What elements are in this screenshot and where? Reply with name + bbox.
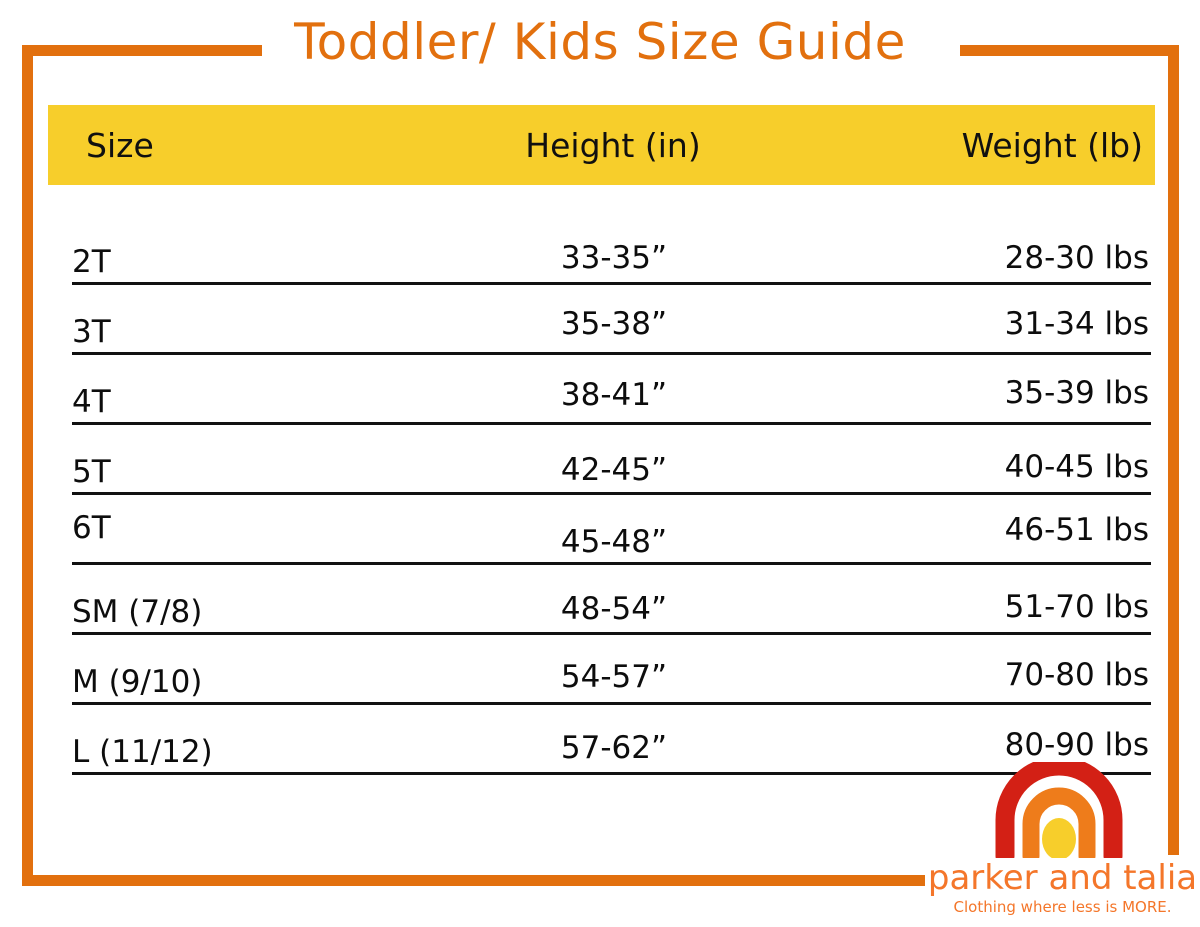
table-body: 2T 33-35” 28-30 lbs 3T 35-38” 31-34 lbs … <box>72 215 1151 775</box>
frame-border-left <box>22 45 33 886</box>
cell-height: 42-45” <box>420 455 808 486</box>
table-row: 3T 35-38” 31-34 lbs <box>72 285 1151 355</box>
cell-height: 57-62” <box>420 733 808 764</box>
cell-weight: 35-39 lbs <box>808 378 1151 409</box>
table-row: 6T 45-48” 46-51 lbs <box>72 495 1151 565</box>
column-header-weight: Weight (lb) <box>808 126 1155 165</box>
table-row: 5T 42-45” 40-45 lbs <box>72 425 1151 495</box>
cell-weight: 80-90 lbs <box>808 730 1151 761</box>
cell-height: 38-41” <box>420 380 808 411</box>
cell-weight: 31-34 lbs <box>808 309 1151 340</box>
table-row: 2T 33-35” 28-30 lbs <box>72 215 1151 285</box>
cell-weight: 40-45 lbs <box>808 452 1151 483</box>
column-header-height: Height (in) <box>418 126 808 165</box>
cell-size: SM (7/8) <box>72 597 420 628</box>
cell-weight: 70-80 lbs <box>808 660 1151 691</box>
table-header-row: Size Height (in) Weight (lb) <box>48 105 1155 185</box>
cell-height: 45-48” <box>420 527 808 558</box>
size-table: Size Height (in) Weight (lb) 2T 33-35” 2… <box>48 105 1155 185</box>
cell-height: 54-57” <box>420 662 808 693</box>
rainbow-arch-icon <box>995 762 1123 858</box>
cell-size: 4T <box>72 387 420 418</box>
table-row: M (9/10) 54-57” 70-80 lbs <box>72 635 1151 705</box>
cell-height: 33-35” <box>420 243 808 274</box>
brand-logo: parker and talia Clothing where less is … <box>925 762 1200 922</box>
cell-weight: 28-30 lbs <box>808 243 1151 274</box>
frame-border-right <box>1168 45 1179 855</box>
brand-wordmark: parker and talia <box>925 858 1200 898</box>
table-row: 4T 38-41” 35-39 lbs <box>72 355 1151 425</box>
cell-size: L (11/12) <box>72 737 420 768</box>
cell-height: 35-38” <box>420 309 808 340</box>
brand-tagline: Clothing where less is MORE. <box>925 898 1200 916</box>
column-header-size: Size <box>48 126 418 165</box>
cell-size: 2T <box>72 247 420 278</box>
cell-size: 5T <box>72 457 420 488</box>
cell-height: 48-54” <box>420 594 808 625</box>
table-row: SM (7/8) 48-54” 51-70 lbs <box>72 565 1151 635</box>
page-title: Toddler/ Kids Size Guide <box>0 13 1200 71</box>
cell-weight: 46-51 lbs <box>808 515 1151 546</box>
frame-border-bottom <box>22 875 925 886</box>
size-guide-page: Toddler/ Kids Size Guide Size Height (in… <box>0 0 1200 927</box>
cell-size: M (9/10) <box>72 667 420 698</box>
cell-size: 3T <box>72 317 420 348</box>
cell-weight: 51-70 lbs <box>808 592 1151 623</box>
cell-size: 6T <box>72 513 420 544</box>
